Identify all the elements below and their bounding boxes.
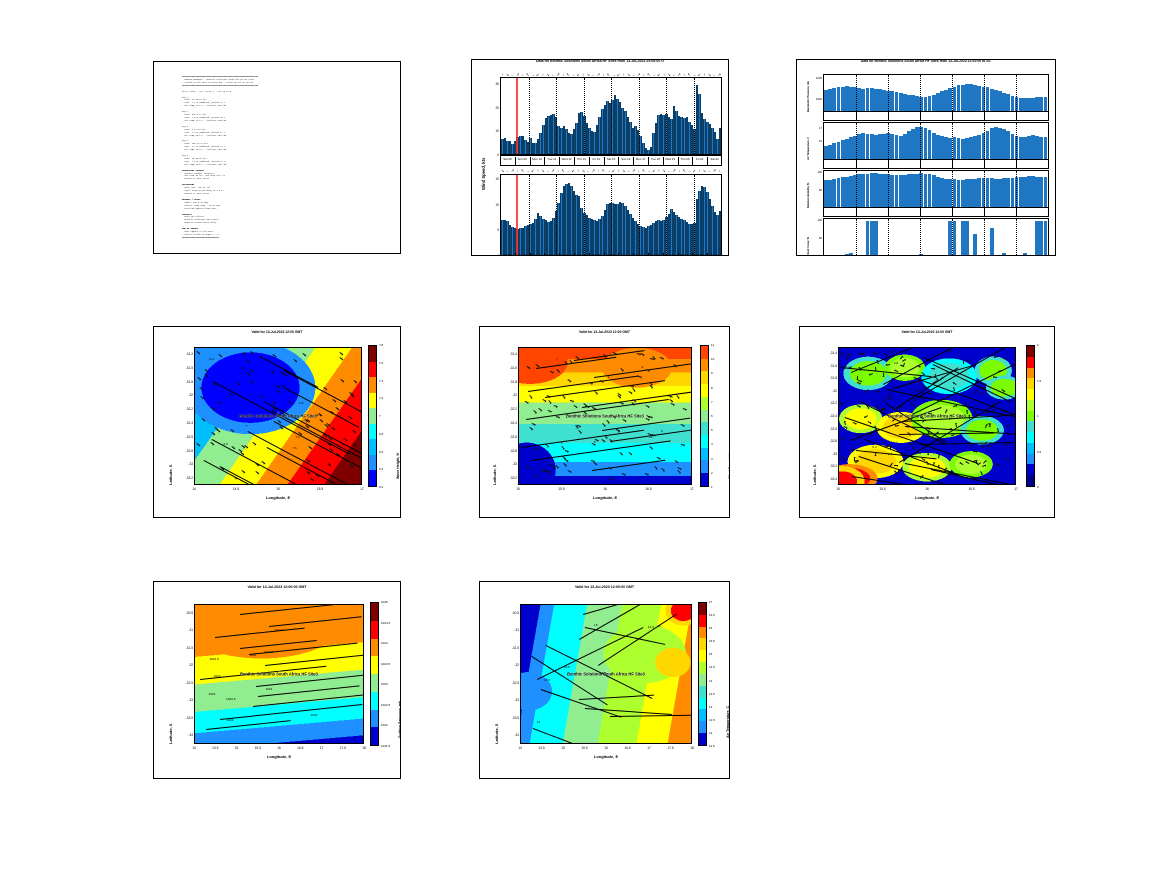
air-temperature-figure[interactable]: Valid for 13-Jul-2023 12:00:00 GMT☆Benth… <box>480 582 729 778</box>
bar <box>1044 177 1048 207</box>
day-separator <box>952 160 953 168</box>
y-tick-label[interactable]: -32.5 <box>174 681 193 685</box>
colorbar-tick-label: 10 <box>711 357 714 361</box>
y-tick-label[interactable]: -30.5 <box>174 611 193 615</box>
y-tick-label[interactable]: -31 <box>174 628 193 632</box>
y-tick-label[interactable]: -31.2 <box>174 352 193 356</box>
panel-surface-pressure-map[interactable]: Valid for 13-Jul-2023 12:00:00 GMT☆Benth… <box>153 581 401 779</box>
y-tick-label[interactable]: -32.8 <box>818 439 837 443</box>
y-tick-label[interactable]: -33.2 <box>174 476 193 480</box>
x-tick-label[interactable]: 14 <box>184 487 204 491</box>
y-tick-label: 5 <box>486 228 499 232</box>
current-vector <box>963 360 964 364</box>
gridline <box>694 175 695 255</box>
day-label: Mon 10 <box>532 157 542 161</box>
x-tick-label[interactable]: 16 <box>917 487 937 491</box>
x-tick-label[interactable]: 14.5 <box>226 487 246 491</box>
panel-forecast-text[interactable]: ========================================… <box>153 61 401 254</box>
colorbar-tick-label: 9 <box>711 371 713 375</box>
bar <box>1044 137 1048 159</box>
contour-field[interactable]: ☆Benthic Solutions South Africa HF Site3… <box>194 347 362 485</box>
day-label: Tue 11 <box>547 157 556 161</box>
contour-label: 1022.5 <box>264 650 273 654</box>
day-label: Sun 16 <box>621 157 630 161</box>
colorbar-band <box>1027 378 1034 389</box>
day-separator <box>856 208 857 216</box>
direction-arrow: → <box>647 167 651 174</box>
wind-speed-subplot[interactable] <box>500 77 722 155</box>
colorbar-label: Surface Pressure, mb <box>398 701 401 738</box>
day-label: Sun 09 <box>518 157 527 161</box>
colorbar-tick-label: 1021.5 <box>381 744 390 748</box>
gridline <box>856 219 857 255</box>
direction-arrow: ↖ <box>526 71 529 78</box>
x-tick-label[interactable]: 16 <box>595 487 615 491</box>
contour-label: 7 <box>556 357 558 361</box>
met-subplot-3[interactable] <box>823 218 1049 256</box>
colorbar-band <box>1027 346 1034 357</box>
direction-arrow: ↘ <box>587 71 590 78</box>
direction-arrow: ↗ <box>632 167 635 174</box>
colorbar-tick-label: 16 <box>709 626 712 630</box>
current-vector <box>873 352 877 354</box>
direction-arrow: ← <box>586 167 590 174</box>
direction-arrow: ↖ <box>688 71 691 78</box>
gridline <box>666 175 667 255</box>
colorbar-band <box>699 733 706 745</box>
y-tick-label[interactable]: -32.4 <box>498 421 517 425</box>
site-label: Benthic Solutions South Africa HF Site3 <box>888 414 966 419</box>
contour-label: 14.5 <box>648 625 654 629</box>
y-tick-label: 1030 <box>808 76 822 80</box>
y-tick-label[interactable]: -31.5 <box>500 646 519 650</box>
day-label: Sat 15 <box>607 253 615 256</box>
colorbar-tick-label: 5 <box>711 428 713 432</box>
colorbar-label: Current Speed, kts <box>1054 447 1055 479</box>
day-label: Fri 14 <box>592 253 599 256</box>
x-tick-label[interactable]: 14 <box>510 746 530 750</box>
contour-label: 16 <box>657 624 660 628</box>
colorbar-tick-label: 8 <box>711 386 713 390</box>
day-label: Tue 18 <box>651 157 660 161</box>
gridline <box>920 219 921 255</box>
colorbar-label: Wave Height, ft <box>396 453 400 479</box>
colorbar-tick-label: 1 <box>711 485 713 489</box>
x-tick-label[interactable]: 18 <box>354 746 374 750</box>
y-tick-label[interactable]: -32.6 <box>498 435 517 439</box>
day-separator <box>589 253 590 256</box>
contour-label: 0.2 <box>872 445 876 449</box>
y-tick-label[interactable]: -33.2 <box>818 464 837 468</box>
direction-arrow: ← <box>712 71 716 78</box>
direction-arrow: ↙ <box>531 167 534 174</box>
current-vector <box>592 407 596 409</box>
direction-arrow: ↓ <box>678 167 680 174</box>
y-tick-label[interactable]: -31.6 <box>498 366 517 370</box>
direction-arrow: ↓ <box>683 71 685 78</box>
contour-label: 1022 <box>249 653 256 657</box>
panel-current-speed-map[interactable]: Valid for 13-Jul-2023 12:00 GMT☆Benthic … <box>799 326 1055 518</box>
colorbar-tick-label: 3 <box>711 457 713 461</box>
contour-label: 14 <box>537 720 540 724</box>
contour-label: 6.5 <box>317 413 321 417</box>
bar-series <box>824 123 1048 159</box>
direction-arrow: ↓ <box>562 71 564 78</box>
y-tick-label[interactable]: -33 <box>498 462 517 466</box>
contour-field[interactable]: ☆Benthic Solutions South Africa HF Site3… <box>194 604 364 744</box>
y-tick-label[interactable]: -31 <box>500 628 519 632</box>
x-tick-label[interactable]: 17 <box>639 746 659 750</box>
direction-arrow: ↘ <box>667 71 670 78</box>
colorbar-band <box>369 439 376 455</box>
day-separator <box>618 253 619 256</box>
wave-height-figure[interactable]: Valid for 13-Jul-2023 12:00 GMT☆Benthic … <box>154 327 400 517</box>
y-tick-label[interactable]: -33.4 <box>818 477 837 481</box>
contour-field[interactable]: ☆Benthic Solutions South Africa HF Site3… <box>520 604 692 744</box>
y-tick-label[interactable]: -31.8 <box>818 376 837 380</box>
colorbar-band <box>699 698 706 710</box>
current-vector <box>534 448 538 450</box>
contour-label: 6.9 <box>299 401 303 405</box>
colorbar-tick-label: 1024.5 <box>381 621 390 625</box>
y-tick-label[interactable]: -32 <box>500 663 519 667</box>
contour-label: 1023 <box>226 718 233 722</box>
contour-field[interactable]: ☆Benthic Solutions South Africa HF Site3… <box>518 347 692 485</box>
y-tick-label[interactable]: -33.5 <box>500 716 519 720</box>
y-tick-label: 100 <box>808 170 822 174</box>
y-axis-label-wind: Wind Speed, kts <box>481 158 486 190</box>
day-separator <box>678 157 679 165</box>
y-tick-label[interactable]: -32 <box>818 389 837 393</box>
x-tick-label[interactable]: 17 <box>352 487 372 491</box>
gridline <box>529 175 530 255</box>
y-tick-label[interactable]: -31.5 <box>174 366 193 370</box>
gridline <box>666 78 667 154</box>
y-tick-label[interactable]: -32.2 <box>818 401 837 405</box>
gridline <box>888 171 889 207</box>
bar <box>1044 221 1048 255</box>
y-tick-label[interactable]: -33 <box>174 462 193 466</box>
panel-wind-speed-map[interactable]: Valid for 13-Jul-2023 12:00 GMT☆Benthic … <box>479 326 730 518</box>
current-vector <box>875 391 879 392</box>
colorbar-band <box>369 455 376 471</box>
bar-series <box>824 171 1048 207</box>
bar <box>965 221 969 255</box>
day-separator <box>984 112 985 120</box>
day-separator <box>692 253 693 256</box>
y-tick-label[interactable]: -31.8 <box>498 380 517 384</box>
wave-height-subplot[interactable] <box>500 174 722 256</box>
y-tick-label[interactable]: -31.4 <box>818 351 837 355</box>
x-tick-label[interactable]: 18 <box>682 746 702 750</box>
y-tick-label[interactable]: -33 <box>174 698 193 702</box>
x-tick-label[interactable]: 16.5 <box>962 487 982 491</box>
contour-label: 6 <box>661 429 663 433</box>
bar-series <box>824 219 1048 255</box>
colorbar-tick-label: 6.4 <box>379 467 383 471</box>
direction-arrow: ↘ <box>506 71 509 78</box>
gridline <box>952 219 953 255</box>
direction-arrow: ↑ <box>703 71 705 78</box>
current-vector <box>993 376 997 378</box>
colorbar-band <box>1027 454 1034 465</box>
bar-series <box>824 75 1048 111</box>
day-label: Sat 08 <box>503 157 511 161</box>
current-speed-figure[interactable]: Valid for 13-Jul-2023 12:00 GMT☆Benthic … <box>800 327 1054 517</box>
direction-arrow: ↘ <box>662 167 665 174</box>
y-tick-label[interactable]: -32 <box>174 393 193 397</box>
gridline <box>529 78 530 154</box>
x-tick-label[interactable]: 17 <box>1006 487 1026 491</box>
x-tick-label[interactable]: 15.5 <box>552 487 572 491</box>
gridline <box>984 171 985 207</box>
current-vector <box>577 425 581 427</box>
surface-pressure-figure[interactable]: Valid for 13-Jul-2023 12:00:00 GMT☆Benth… <box>154 582 400 778</box>
colorbar-tick-label: 7.2 <box>379 396 383 400</box>
current-vector <box>888 453 892 455</box>
y-tick-label[interactable]: -32.4 <box>818 414 837 418</box>
y-tick-label[interactable]: -32.6 <box>818 427 837 431</box>
x-tick-label[interactable]: 17.5 <box>333 746 353 750</box>
y-tick-label[interactable]: -30.5 <box>500 611 519 615</box>
direction-arrow: ↘ <box>708 71 711 78</box>
colorbar-band <box>1027 475 1034 486</box>
bar <box>973 234 977 255</box>
colorbar-tick-label: 2 <box>711 471 713 475</box>
x-axis-label: Longitude, E <box>838 495 1016 500</box>
x-tick-label[interactable]: 16.5 <box>290 746 310 750</box>
panel-wave-height-map[interactable]: Valid for 13-Jul-2023 12:00 GMT☆Benthic … <box>153 326 401 518</box>
colorbar-band <box>369 377 376 393</box>
y-tick-label[interactable]: -32.8 <box>498 449 517 453</box>
direction-arrow: ↗ <box>511 167 514 174</box>
day-separator <box>1016 160 1017 168</box>
gridline <box>856 75 857 111</box>
chart-title: Valid for 13-Jul-2023 12:00 GMT <box>800 330 1054 334</box>
x-tick-label[interactable]: 14.5 <box>532 746 552 750</box>
contour-label: 7.1 <box>279 384 283 388</box>
y-tick-label[interactable]: -32.2 <box>498 407 517 411</box>
chart-title: Valid for 13-Jul-2023 12:00:00 GMT <box>480 585 729 589</box>
x-tick-label[interactable]: 16.5 <box>639 487 659 491</box>
y-tick-label[interactable]: -32 <box>498 393 517 397</box>
contour-label: 10 <box>649 435 652 439</box>
x-tick-label[interactable]: 15 <box>268 487 288 491</box>
colorbar-tick-label: 1024 <box>381 641 388 645</box>
contour-label: 7.6 <box>292 446 296 450</box>
direction-arrow: → <box>687 167 691 174</box>
direction-arrow: ↗ <box>713 167 716 174</box>
day-label: Wed 12 <box>562 253 572 256</box>
y-tick-label: 15 <box>486 177 499 181</box>
direction-arrow: ↘ <box>546 71 549 78</box>
contour-label: 5 <box>671 395 673 399</box>
colorbar-band <box>699 603 706 615</box>
contour-label: 9 <box>641 365 643 369</box>
day-label: Mon 17 <box>636 253 646 256</box>
x-tick-label[interactable]: 15.5 <box>248 746 268 750</box>
met-subplot-0[interactable] <box>823 74 1049 112</box>
y-tick-label[interactable]: -32 <box>174 663 193 667</box>
colorbar[interactable] <box>370 602 379 746</box>
gridline <box>920 75 921 111</box>
bar <box>874 221 878 255</box>
x-tick-label[interactable]: 16 <box>269 746 289 750</box>
site-label: Benthic Solutions South Africa HF Site3 <box>239 414 317 419</box>
met-subplot-2[interactable] <box>823 170 1049 208</box>
panel-wind-wave-timeseries[interactable]: Data for Benthic Solutions South Africa … <box>471 59 729 256</box>
x-tick-label[interactable]: 15 <box>508 487 528 491</box>
met-subplot-1[interactable] <box>823 122 1049 160</box>
direction-arrow: ↖ <box>647 71 650 78</box>
y-tick-label[interactable]: -31.8 <box>174 380 193 384</box>
colorbar-tick-label: 1022.5 <box>381 703 390 707</box>
current-vector <box>844 421 846 425</box>
y-tick-label: 15 <box>808 139 822 143</box>
wind-speed-figure[interactable]: Valid for 13-Jul-2023 12:00 GMT☆Benthic … <box>480 327 729 517</box>
contour-label: 1022.5 <box>226 697 235 701</box>
colorbar-band <box>701 473 708 486</box>
y-tick-label: 20 <box>486 106 499 110</box>
direction-arrow: ↖ <box>521 167 524 174</box>
colorbar-tick-label: 17 <box>709 600 712 604</box>
gridline <box>856 171 857 207</box>
colorbar-tick-label: 0 <box>1037 485 1039 489</box>
y-tick-label[interactable]: -34 <box>174 733 193 737</box>
current-vector <box>976 414 980 416</box>
colorbar-band <box>371 692 378 710</box>
day-separator <box>888 208 889 216</box>
day-separator <box>663 253 664 256</box>
colorbar-band <box>699 686 706 698</box>
bar <box>1002 253 1006 255</box>
x-tick-label[interactable]: 14 <box>184 746 204 750</box>
direction-arrow: ↙ <box>698 71 701 78</box>
panel-met-timeseries[interactable]: Data for Benthic Solutions South Africa … <box>796 59 1056 256</box>
x-tick-label[interactable]: 15 <box>828 487 848 491</box>
y-tick-label[interactable]: -32.4 <box>174 421 193 425</box>
x-tick-label[interactable]: 15 <box>553 746 573 750</box>
direction-arrow: ↖ <box>561 167 564 174</box>
y-tick-label[interactable]: -33.2 <box>498 476 517 480</box>
x-tick-label[interactable]: 16.5 <box>618 746 638 750</box>
colorbar-tick-label: 2 <box>1037 343 1039 347</box>
y-tick-label[interactable]: -33 <box>818 452 837 456</box>
y-tick-label[interactable]: -33 <box>500 698 519 702</box>
day-separator <box>604 157 605 165</box>
colorbar[interactable] <box>698 602 707 746</box>
direction-arrow: → <box>612 71 616 78</box>
colorbar-band <box>371 639 378 657</box>
direction-arrow: ↓ <box>602 71 604 78</box>
x-tick-label[interactable]: 17 <box>682 487 702 491</box>
x-tick-label[interactable]: 15.5 <box>873 487 893 491</box>
x-axis-label: Longitude, E <box>194 754 364 759</box>
contour-field[interactable]: ☆Benthic Solutions South Africa HF Site3… <box>838 347 1016 485</box>
current-vector <box>955 423 957 427</box>
day-label: Sat 15 <box>607 157 615 161</box>
day-separator <box>559 157 560 165</box>
colorbar-label: Air Temperature, C <box>726 706 730 738</box>
y-tick-label[interactable]: -33.5 <box>174 716 193 720</box>
day-separator <box>984 160 985 168</box>
y-axis-label: Latitude, S <box>492 465 497 485</box>
direction-arrow: ↖ <box>602 167 605 174</box>
y-axis-label: Latitude, S <box>812 465 817 485</box>
direction-arrow: ↑ <box>577 167 579 174</box>
day-strip-box-0 <box>823 112 1049 121</box>
y-tick-label[interactable]: -32.5 <box>174 435 193 439</box>
colorbar-tick-label: 6.8 <box>379 432 383 436</box>
y-tick-label[interactable]: -34 <box>500 733 519 737</box>
x-tick-label[interactable]: 15 <box>227 746 247 750</box>
day-separator <box>920 160 921 168</box>
contour-label: 0.6 <box>917 451 921 455</box>
gridline <box>952 75 953 111</box>
y-tick-label[interactable]: -31.4 <box>498 352 517 356</box>
direction-arrow: ↙ <box>657 71 660 78</box>
day-separator <box>856 112 857 120</box>
day-separator <box>618 157 619 165</box>
y-tick-label[interactable]: -32.8 <box>174 449 193 453</box>
direction-arrow: ← <box>667 167 671 174</box>
colorbar-band <box>369 470 376 486</box>
colorbar-band <box>699 674 706 686</box>
chart-title: Data for Benthic Solutions South Africa … <box>797 59 1055 63</box>
colorbar-tick-label: 7.4 <box>379 379 383 383</box>
colorbar-band <box>701 384 708 397</box>
y-tick-label: 10 <box>486 129 499 133</box>
x-tick-label[interactable]: 16 <box>596 746 616 750</box>
direction-arrow: ← <box>707 167 711 174</box>
direction-arrow: ↘ <box>703 167 706 174</box>
colorbar-band <box>701 422 708 435</box>
contour-label: 6.4 <box>209 357 213 361</box>
y-tick-label[interactable]: -32.2 <box>174 407 193 411</box>
panel-air-temperature-map[interactable]: Valid for 13-Jul-2023 12:00:00 GMT☆Benth… <box>479 581 730 779</box>
colorbar[interactable] <box>368 345 377 487</box>
colorbar-band <box>369 424 376 440</box>
x-tick-label[interactable]: 14.5 <box>205 746 225 750</box>
x-tick-label[interactable]: 15.5 <box>310 487 330 491</box>
x-axis-label: Longitude, E <box>520 754 692 759</box>
x-tick-label[interactable]: 15.5 <box>575 746 595 750</box>
y-tick-label[interactable]: -31.6 <box>818 364 837 368</box>
contour-label: 8 <box>594 440 596 444</box>
colorbar-band <box>1027 432 1034 443</box>
contour-label: 1023.5 <box>274 628 283 632</box>
colorbar-band <box>369 362 376 378</box>
colorbar-band <box>371 656 378 674</box>
colorbar-label: Wind Speed, kts <box>728 451 730 479</box>
day-separator <box>856 160 857 168</box>
contour-label: 4 <box>608 375 610 379</box>
colorbar-band <box>701 359 708 372</box>
chart-title: Valid for 13-Jul-2023 12:00 GMT <box>480 330 729 334</box>
contour-label: 15.5 <box>544 678 550 682</box>
x-tick-label[interactable]: 17.5 <box>661 746 681 750</box>
colorbar-tick-label: 13 <box>709 705 712 709</box>
y-tick-label[interactable]: -32.5 <box>500 681 519 685</box>
direction-arrow: ↙ <box>577 71 580 78</box>
direction-arrow: ↗ <box>672 167 675 174</box>
y-tick-label[interactable]: -31.5 <box>174 646 193 650</box>
contour-label: 1024 <box>310 713 317 717</box>
x-tick-label[interactable]: 17 <box>312 746 332 750</box>
colorbar[interactable] <box>1026 345 1035 487</box>
colorbar[interactable] <box>700 345 709 487</box>
gridline <box>556 175 557 255</box>
